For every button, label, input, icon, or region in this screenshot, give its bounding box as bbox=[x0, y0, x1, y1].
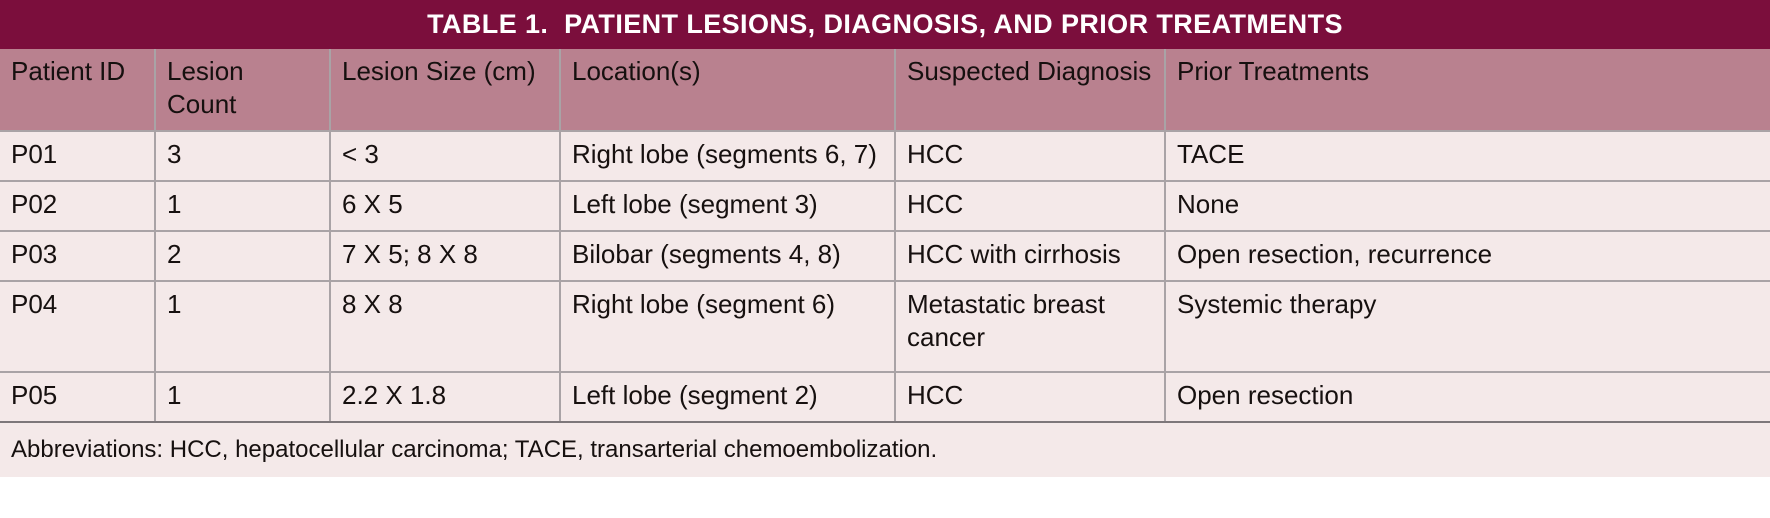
cell-diagnosis: HCC bbox=[895, 131, 1165, 181]
table-row: P03 2 7 X 5; 8 X 8 Bilobar (segments 4, … bbox=[0, 231, 1770, 281]
cell-location: Left lobe (segment 2) bbox=[560, 372, 895, 422]
table-row: P02 1 6 X 5 Left lobe (segment 3) HCC No… bbox=[0, 181, 1770, 231]
cell-lesion-count: 1 bbox=[155, 181, 330, 231]
cell-location: Bilobar (segments 4, 8) bbox=[560, 231, 895, 281]
cell-lesion-size: 6 X 5 bbox=[330, 181, 560, 231]
cell-lesion-count: 3 bbox=[155, 131, 330, 181]
table-title: TABLE 1. PATIENT LESIONS, DIAGNOSIS, AND… bbox=[0, 0, 1770, 49]
cell-diagnosis-line-2: cancer bbox=[907, 321, 1153, 354]
cell-prior-treatments: TACE bbox=[1165, 131, 1770, 181]
cell-prior-treatments: Open resection bbox=[1165, 372, 1770, 422]
table-row: P05 1 2.2 X 1.8 Left lobe (segment 2) HC… bbox=[0, 372, 1770, 422]
cell-diagnosis: Metastatic breast cancer bbox=[895, 281, 1165, 372]
cell-diagnosis: HCC bbox=[895, 181, 1165, 231]
cell-patient-id: P01 bbox=[0, 131, 155, 181]
cell-lesion-size: 7 X 5; 8 X 8 bbox=[330, 231, 560, 281]
header-row: Patient ID Lesion Count Lesion Size (cm)… bbox=[0, 49, 1770, 131]
cell-lesion-count: 1 bbox=[155, 372, 330, 422]
cell-location: Right lobe (segments 6, 7) bbox=[560, 131, 895, 181]
column-header-prior-treatments: Prior Treatments bbox=[1165, 49, 1770, 131]
cell-prior-treatments: None bbox=[1165, 181, 1770, 231]
cell-prior-treatments: Systemic therapy bbox=[1165, 281, 1770, 372]
table-container: TABLE 1. PATIENT LESIONS, DIAGNOSIS, AND… bbox=[0, 0, 1770, 518]
table-header: Patient ID Lesion Count Lesion Size (cm)… bbox=[0, 49, 1770, 131]
cell-lesion-size: 2.2 X 1.8 bbox=[330, 372, 560, 422]
cell-diagnosis-line-1: Metastatic breast bbox=[907, 288, 1153, 321]
table-row: P04 1 8 X 8 Right lobe (segment 6) Metas… bbox=[0, 281, 1770, 372]
cell-diagnosis: HCC bbox=[895, 372, 1165, 422]
column-header-suspected-diagnosis: Suspected Diagnosis bbox=[895, 49, 1165, 131]
table-body: P01 3 < 3 Right lobe (segments 6, 7) HCC… bbox=[0, 131, 1770, 422]
cell-location: Right lobe (segment 6) bbox=[560, 281, 895, 372]
cell-patient-id: P04 bbox=[0, 281, 155, 372]
column-header-patient-id: Patient ID bbox=[0, 49, 155, 131]
footnote-row: Abbreviations: HCC, hepatocellular carci… bbox=[0, 422, 1770, 477]
column-header-lesion-size: Lesion Size (cm) bbox=[330, 49, 560, 131]
abbreviations-footnote: Abbreviations: HCC, hepatocellular carci… bbox=[0, 422, 1770, 477]
patient-lesions-table: Patient ID Lesion Count Lesion Size (cm)… bbox=[0, 49, 1770, 477]
cell-prior-treatments: Open resection, recurrence bbox=[1165, 231, 1770, 281]
column-header-locations: Location(s) bbox=[560, 49, 895, 131]
column-header-lesion-count: Lesion Count bbox=[155, 49, 330, 131]
cell-lesion-size: < 3 bbox=[330, 131, 560, 181]
cell-lesion-count: 1 bbox=[155, 281, 330, 372]
cell-diagnosis: HCC with cirrhosis bbox=[895, 231, 1165, 281]
table-row: P01 3 < 3 Right lobe (segments 6, 7) HCC… bbox=[0, 131, 1770, 181]
cell-location: Left lobe (segment 3) bbox=[560, 181, 895, 231]
cell-lesion-count: 2 bbox=[155, 231, 330, 281]
cell-lesion-size: 8 X 8 bbox=[330, 281, 560, 372]
cell-patient-id: P03 bbox=[0, 231, 155, 281]
cell-patient-id: P02 bbox=[0, 181, 155, 231]
table-footer: Abbreviations: HCC, hepatocellular carci… bbox=[0, 422, 1770, 477]
cell-patient-id: P05 bbox=[0, 372, 155, 422]
